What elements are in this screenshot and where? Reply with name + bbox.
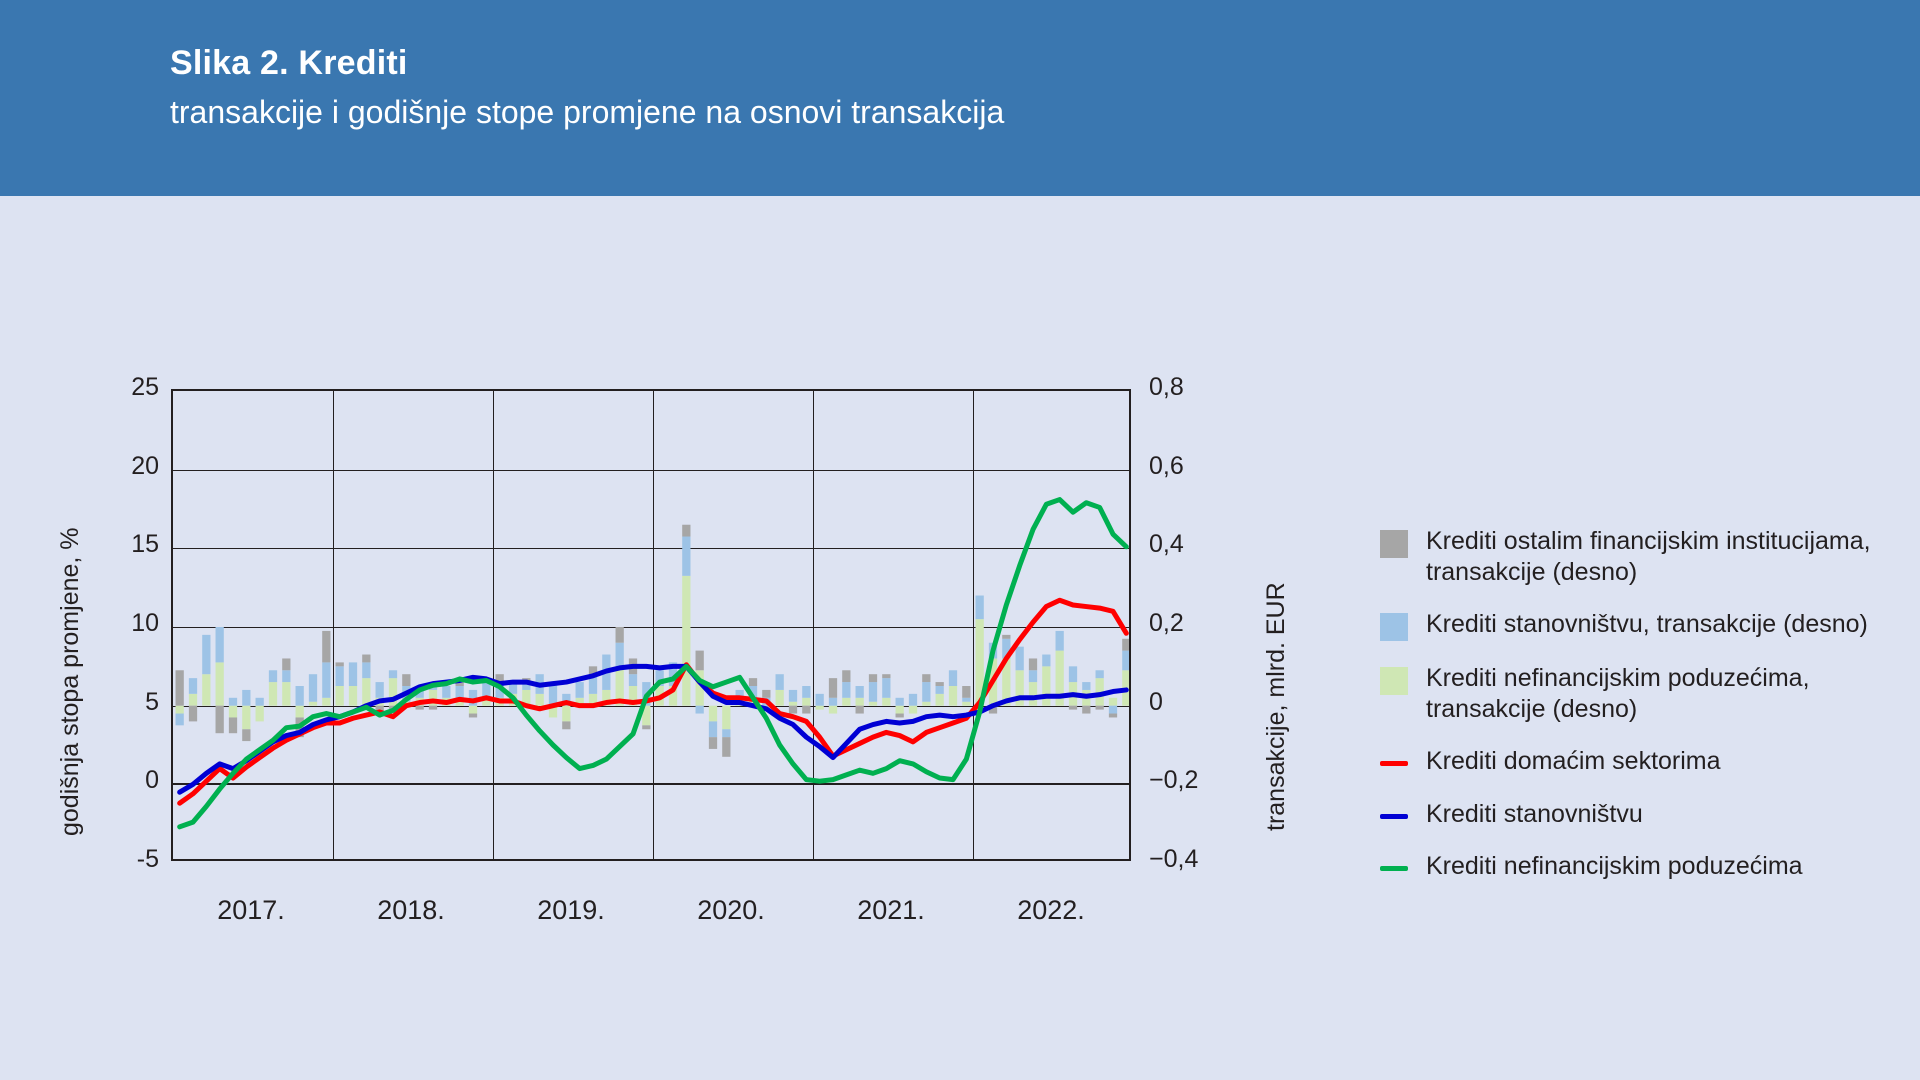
bar-segment bbox=[909, 694, 917, 706]
bar-segment bbox=[269, 682, 277, 706]
bar-segment bbox=[189, 706, 197, 722]
legend-swatch-icon bbox=[1380, 530, 1408, 558]
legend-line-icon bbox=[1380, 814, 1408, 819]
line-series bbox=[180, 500, 1127, 827]
bar-segment bbox=[1109, 714, 1117, 718]
bar-segment bbox=[1069, 666, 1077, 682]
y-axis-right-tick-label: 0,4 bbox=[1149, 530, 1239, 559]
bar-segment bbox=[376, 682, 384, 698]
bar-segment bbox=[1109, 698, 1117, 706]
bar-segment bbox=[256, 698, 264, 706]
bar-segment bbox=[629, 674, 637, 686]
bar-segment bbox=[282, 682, 290, 706]
bar-segment bbox=[709, 721, 717, 737]
bar-segment bbox=[562, 706, 570, 722]
bar-segment bbox=[976, 596, 984, 620]
legend-line-icon bbox=[1380, 761, 1408, 766]
bar-segment bbox=[336, 666, 344, 686]
bar-segment bbox=[762, 690, 770, 698]
bar-segment bbox=[682, 576, 690, 706]
bar-segment bbox=[722, 706, 730, 730]
bar-segment bbox=[842, 670, 850, 682]
bar-segment bbox=[856, 706, 864, 714]
bar-segment bbox=[242, 706, 250, 730]
legend-line-icon bbox=[1380, 866, 1408, 871]
bar-segment bbox=[1042, 666, 1050, 705]
bar-segment bbox=[789, 690, 797, 702]
bar-segment bbox=[362, 662, 370, 678]
bar-segment bbox=[962, 698, 970, 702]
figure-title: Slika 2. Krediti bbox=[170, 44, 408, 83]
bar-segment bbox=[216, 706, 224, 734]
bar-segment bbox=[896, 706, 904, 714]
bar-segment bbox=[682, 525, 690, 537]
bar-segment bbox=[829, 698, 837, 706]
bar-segment bbox=[949, 670, 957, 686]
y-axis-right-tick-label: −0,4 bbox=[1149, 845, 1239, 874]
bar-segment bbox=[709, 706, 717, 722]
bar-segment bbox=[536, 694, 544, 706]
bar-segment bbox=[336, 686, 344, 706]
legend-item[interactable]: Krediti stanovništvu, transakcije (desno… bbox=[1380, 609, 1880, 641]
plot-area bbox=[171, 389, 1131, 861]
chart-canvas bbox=[173, 391, 1131, 861]
bar-segment bbox=[322, 631, 330, 662]
y-axis-right-tick-label: −0,2 bbox=[1149, 766, 1239, 795]
y-axis-left-tick-label: -5 bbox=[89, 845, 159, 874]
bar-segment bbox=[936, 686, 944, 694]
bar-segment bbox=[1069, 706, 1077, 710]
legend-item-label: Krediti stanovništvu bbox=[1426, 799, 1643, 830]
bar-segment bbox=[616, 643, 624, 667]
legend-item-label: Krediti nefinancijskim poduzećima bbox=[1426, 851, 1803, 882]
bar-segment bbox=[1056, 631, 1064, 651]
bar-segment bbox=[202, 635, 210, 674]
bar-segment bbox=[1096, 706, 1104, 710]
bar-segment bbox=[722, 737, 730, 757]
legend-item-label: Krediti nefinancijskim poduzećima, trans… bbox=[1426, 663, 1880, 724]
bar-segment bbox=[176, 670, 184, 705]
bar-segment bbox=[296, 686, 304, 706]
bar-segment bbox=[776, 674, 784, 690]
y-axis-left-tick-label: 20 bbox=[89, 452, 159, 481]
y-axis-right-tick-label: 0 bbox=[1149, 688, 1239, 717]
y-axis-right-title: transakcije, mlrd. EUR bbox=[1262, 582, 1291, 831]
bar-segment bbox=[362, 655, 370, 663]
bar-segment bbox=[816, 706, 824, 710]
bar-segment bbox=[1109, 706, 1117, 714]
bar-segment bbox=[722, 729, 730, 737]
y-axis-left-tick-label: 15 bbox=[89, 530, 159, 559]
legend-item[interactable]: Krediti ostalim financijskim institucija… bbox=[1380, 526, 1880, 587]
legend-item[interactable]: Krediti nefinancijskim poduzećima, trans… bbox=[1380, 663, 1880, 724]
bar-segment bbox=[282, 658, 290, 670]
bar-segment bbox=[562, 721, 570, 729]
y-axis-right-tick-label: 0,2 bbox=[1149, 609, 1239, 638]
bar-segment bbox=[202, 674, 210, 705]
bar-segment bbox=[842, 698, 850, 706]
bar-segment bbox=[789, 702, 797, 706]
bar-segment bbox=[962, 702, 970, 706]
bar-segment bbox=[816, 694, 824, 706]
bar-segment bbox=[216, 662, 224, 705]
bar-segment bbox=[189, 694, 197, 706]
bar-segment bbox=[922, 674, 930, 682]
bar-segment bbox=[362, 678, 370, 706]
legend-swatch-icon bbox=[1380, 667, 1408, 695]
bar-segment bbox=[469, 706, 477, 714]
bar-segment bbox=[842, 682, 850, 698]
bar-segment bbox=[682, 537, 690, 576]
bar-segment bbox=[749, 678, 757, 686]
legend-item[interactable]: Krediti stanovništvu bbox=[1380, 799, 1880, 830]
y-axis-left-tick-label: 5 bbox=[89, 688, 159, 717]
bar-segment bbox=[936, 694, 944, 706]
bar-segment bbox=[869, 674, 877, 682]
bar-segment bbox=[789, 706, 797, 714]
bar-segment bbox=[709, 737, 717, 749]
bar-segment bbox=[1029, 670, 1037, 682]
bar-segment bbox=[696, 651, 704, 671]
figure-page: Slika 2. Krediti transakcije i godišnje … bbox=[0, 0, 1920, 1080]
bar-segment bbox=[962, 686, 970, 698]
bar-segment bbox=[282, 670, 290, 682]
bar-segment bbox=[322, 662, 330, 697]
x-axis-tick-label: 2017. bbox=[171, 895, 331, 926]
figure-subtitle: transakcije i godišnje stope promjene na… bbox=[170, 94, 1004, 131]
bar-segment bbox=[776, 690, 784, 706]
bar-segment bbox=[576, 682, 584, 698]
bar-segment bbox=[909, 706, 917, 714]
bar-segment bbox=[442, 686, 450, 698]
bar-segment bbox=[349, 686, 357, 706]
x-axis-tick-label: 2018. bbox=[331, 895, 491, 926]
bar-segment bbox=[829, 706, 837, 714]
y-axis-left-tick-label: 25 bbox=[89, 373, 159, 402]
bar-segment bbox=[429, 706, 437, 710]
legend-item-label: Krediti stanovništvu, transakcije (desno… bbox=[1426, 609, 1868, 640]
chart-legend: Krediti ostalim financijskim institucija… bbox=[1380, 526, 1880, 904]
bar-segment bbox=[256, 706, 264, 722]
bar-segment bbox=[336, 662, 344, 666]
x-axis-tick-label: 2021. bbox=[811, 895, 971, 926]
bar-segment bbox=[309, 702, 317, 706]
bar-segment bbox=[242, 729, 250, 741]
figure-body: godišnja stopa promjene, % transakcije, … bbox=[0, 196, 1920, 1080]
bar-segment bbox=[882, 674, 890, 678]
bar-segment bbox=[229, 717, 237, 733]
bar-segment bbox=[1096, 670, 1104, 678]
x-axis-tick-label: 2019. bbox=[491, 895, 651, 926]
bar-segment bbox=[469, 714, 477, 718]
bar-segment bbox=[229, 706, 237, 718]
bar-segment bbox=[309, 674, 317, 702]
bar-segment bbox=[869, 682, 877, 702]
bar-segment bbox=[1029, 658, 1037, 670]
bar-segment bbox=[1082, 706, 1090, 714]
figure-header: Slika 2. Krediti transakcije i godišnje … bbox=[0, 0, 1920, 196]
bar-segment bbox=[949, 686, 957, 706]
bar-segment bbox=[296, 706, 304, 718]
bar-segment bbox=[416, 706, 424, 710]
bar-segment bbox=[269, 670, 277, 682]
bar-segment bbox=[922, 702, 930, 706]
bar-segment bbox=[936, 682, 944, 686]
bar-segment bbox=[1122, 651, 1130, 671]
bar-segment bbox=[802, 698, 810, 706]
bar-segment bbox=[349, 662, 357, 686]
legend-item-label: Krediti domaćim sektorima bbox=[1426, 746, 1721, 777]
bar-segment bbox=[176, 706, 184, 714]
bar-segment bbox=[802, 706, 810, 714]
bar-segment bbox=[922, 682, 930, 702]
bar-segment bbox=[856, 686, 864, 698]
bar-segment bbox=[402, 674, 410, 686]
line-series-group bbox=[180, 500, 1127, 827]
bar-segment bbox=[1122, 639, 1130, 651]
bar-segment bbox=[1082, 682, 1090, 690]
y-axis-left-tick-label: 10 bbox=[89, 609, 159, 638]
bar-segment bbox=[856, 698, 864, 706]
legend-item-label: Krediti ostalim financijskim institucija… bbox=[1426, 526, 1880, 587]
bar-segment bbox=[389, 670, 397, 678]
bar-segment bbox=[896, 698, 904, 706]
y-axis-left-tick-label: 0 bbox=[89, 766, 159, 795]
bar-segment bbox=[322, 698, 330, 706]
bar-segment bbox=[216, 627, 224, 662]
bar-segment bbox=[1016, 647, 1024, 671]
x-axis-tick-label: 2022. bbox=[971, 895, 1131, 926]
bar-segment bbox=[176, 714, 184, 726]
bar-segment bbox=[896, 714, 904, 718]
bar-segment bbox=[802, 686, 810, 698]
x-axis-tick-label: 2020. bbox=[651, 895, 811, 926]
bar-segment bbox=[242, 690, 250, 706]
bar-segment bbox=[189, 678, 197, 694]
legend-item[interactable]: Krediti nefinancijskim poduzećima bbox=[1380, 851, 1880, 882]
bar-segment bbox=[1029, 682, 1037, 706]
legend-item[interactable]: Krediti domaćim sektorima bbox=[1380, 746, 1880, 777]
bar-segment bbox=[869, 702, 877, 706]
bar-segment bbox=[882, 678, 890, 698]
y-axis-left-title: godišnja stopa promjene, % bbox=[56, 527, 85, 836]
bar-segment bbox=[229, 698, 237, 706]
legend-swatch-icon bbox=[1380, 613, 1408, 641]
bar-segment bbox=[1002, 635, 1010, 639]
y-axis-right-tick-label: 0,6 bbox=[1149, 452, 1239, 481]
bar-segment bbox=[1042, 655, 1050, 667]
bar-segment bbox=[829, 678, 837, 698]
bar-segment bbox=[696, 706, 704, 714]
bar-segment bbox=[642, 725, 650, 729]
bar-segment bbox=[882, 698, 890, 706]
bar-segment bbox=[616, 627, 624, 643]
y-axis-right-tick-label: 0,8 bbox=[1149, 373, 1239, 402]
